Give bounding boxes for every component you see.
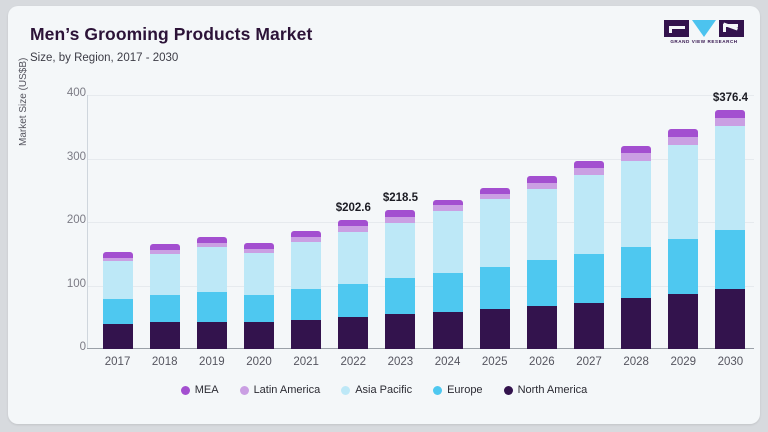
x-axis-tick-label: 2022 (329, 356, 377, 368)
bar-segment-europe[interactable] (480, 267, 510, 309)
bar-segment-north-america[interactable] (385, 314, 415, 349)
x-axis-tick-label: 2028 (612, 356, 660, 368)
y-axis-tick-label: 300 (42, 151, 86, 163)
gridline (88, 286, 754, 287)
bar-2019[interactable] (197, 95, 227, 349)
bar-segment-north-america[interactable] (433, 312, 463, 349)
legend-item-europe[interactable]: Europe (433, 384, 482, 396)
bar-2025[interactable] (480, 95, 510, 349)
bar-2020[interactable] (244, 95, 274, 349)
x-axis-tick-label: 2021 (282, 356, 330, 368)
bar-segment-asia-pacific[interactable] (244, 253, 274, 295)
bar-segment-asia-pacific[interactable] (150, 254, 180, 295)
bar-segment-asia-pacific[interactable] (197, 247, 227, 292)
legend-label: Europe (447, 384, 482, 396)
bar-segment-north-america[interactable] (480, 309, 510, 349)
bar-segment-north-america[interactable] (715, 289, 745, 349)
bar-segment-asia-pacific[interactable] (715, 126, 745, 230)
bar-segment-europe[interactable] (574, 254, 604, 302)
bar-segment-mea[interactable] (244, 243, 274, 249)
bar-segment-north-america[interactable] (574, 303, 604, 349)
gridline (88, 222, 754, 223)
legend-label: Latin America (254, 384, 321, 396)
bar-segment-mea[interactable] (103, 252, 133, 257)
bar-segment-north-america[interactable] (244, 322, 274, 349)
x-axis-tick-label: 2027 (565, 356, 613, 368)
bar-segment-asia-pacific[interactable] (527, 189, 557, 260)
bar-segment-mea[interactable] (385, 210, 415, 217)
bar-segment-latin-america[interactable] (150, 250, 180, 254)
bar-segment-asia-pacific[interactable] (433, 211, 463, 273)
bar-2022[interactable] (338, 95, 368, 349)
x-axis-line (87, 348, 754, 349)
x-axis-tick-label: 2023 (376, 356, 424, 368)
legend-label: Asia Pacific (355, 384, 412, 396)
bar-segment-europe[interactable] (197, 292, 227, 321)
bar-segment-latin-america[interactable] (197, 243, 227, 247)
bar-segment-mea[interactable] (197, 237, 227, 243)
legend-swatch-icon (504, 386, 513, 395)
x-axis-tick-label: 2029 (659, 356, 707, 368)
bar-segment-mea[interactable] (480, 188, 510, 194)
bar-segment-europe[interactable] (433, 273, 463, 312)
bar-segment-mea[interactable] (433, 200, 463, 206)
bar-segment-north-america[interactable] (338, 317, 368, 349)
legend-swatch-icon (181, 386, 190, 395)
bar-2023[interactable] (385, 95, 415, 349)
bar-2024[interactable] (433, 95, 463, 349)
y-axis-title: Market Size (US$B) (18, 58, 29, 146)
bar-segment-latin-america[interactable] (527, 183, 557, 189)
bar-segment-asia-pacific[interactable] (574, 175, 604, 254)
bar-segment-latin-america[interactable] (621, 153, 651, 161)
x-axis-tick-label: 2025 (471, 356, 519, 368)
bar-segment-europe[interactable] (103, 299, 133, 324)
bar-segment-mea[interactable] (621, 146, 651, 154)
bar-segment-europe[interactable] (621, 247, 651, 298)
bar-segment-mea[interactable] (291, 231, 321, 237)
legend-label: North America (518, 384, 588, 396)
x-axis-tick-label: 2030 (706, 356, 754, 368)
y-axis-tick-label: 100 (42, 278, 86, 290)
bar-segment-latin-america[interactable] (715, 118, 745, 126)
bar-segment-asia-pacific[interactable] (668, 145, 698, 240)
bar-segment-mea[interactable] (338, 220, 368, 226)
legend-swatch-icon (240, 386, 249, 395)
bar-2030[interactable] (715, 95, 745, 349)
stacked-bar-chart: Market Size (US$B) 010020030040020172018… (8, 6, 760, 424)
bar-2027[interactable] (574, 95, 604, 349)
bar-segment-europe[interactable] (244, 295, 274, 322)
legend-item-north-america[interactable]: North America (504, 384, 588, 396)
bar-segment-latin-america[interactable] (291, 237, 321, 242)
x-axis-tick-label: 2019 (188, 356, 236, 368)
bar-segment-asia-pacific[interactable] (480, 199, 510, 267)
bar-segment-asia-pacific[interactable] (621, 161, 651, 247)
bar-2021[interactable] (291, 95, 321, 349)
bar-segment-europe[interactable] (715, 230, 745, 290)
bar-segment-north-america[interactable] (668, 294, 698, 349)
bar-segment-north-america[interactable] (527, 306, 557, 349)
bar-segment-north-america[interactable] (621, 298, 651, 349)
bar-segment-europe[interactable] (385, 278, 415, 314)
bar-2026[interactable] (527, 95, 557, 349)
y-axis-tick-label: 400 (42, 87, 86, 99)
bar-value-label: $218.5 (364, 192, 436, 204)
bar-segment-latin-america[interactable] (338, 226, 368, 231)
bar-value-label: $376.4 (694, 92, 760, 104)
y-axis-tick-label: 200 (42, 214, 86, 226)
bar-segment-latin-america[interactable] (480, 194, 510, 199)
x-axis-tick-label: 2024 (424, 356, 472, 368)
bar-segment-mea[interactable] (668, 129, 698, 137)
bar-segment-mea[interactable] (715, 110, 745, 118)
chart-card: Men’s Grooming Products Market Size, by … (8, 6, 760, 424)
x-axis-tick-label: 2018 (141, 356, 189, 368)
bar-segment-asia-pacific[interactable] (291, 242, 321, 288)
bar-segment-mea[interactable] (150, 244, 180, 250)
bar-segment-europe[interactable] (668, 239, 698, 294)
bar-segment-europe[interactable] (291, 289, 321, 321)
bar-segment-europe[interactable] (338, 284, 368, 317)
gridline (88, 95, 754, 96)
legend-label: MEA (195, 384, 219, 396)
chart-legend: MEALatin AmericaAsia PacificEuropeNorth … (8, 384, 760, 396)
bar-2028[interactable] (621, 95, 651, 349)
bar-segment-latin-america[interactable] (433, 205, 463, 210)
bar-segment-asia-pacific[interactable] (103, 261, 133, 299)
bar-segment-latin-america[interactable] (668, 137, 698, 145)
x-axis-tick-label: 2020 (235, 356, 283, 368)
bar-segment-latin-america[interactable] (244, 249, 274, 253)
x-axis-tick-label: 2026 (518, 356, 566, 368)
bar-segment-mea[interactable] (527, 176, 557, 182)
bar-segment-north-america[interactable] (291, 320, 321, 349)
legend-item-mea[interactable]: MEA (181, 384, 219, 396)
bar-segment-north-america[interactable] (103, 324, 133, 349)
bar-segment-asia-pacific[interactable] (385, 223, 415, 278)
x-axis-tick-label: 2017 (94, 356, 142, 368)
bar-segment-north-america[interactable] (150, 322, 180, 349)
bar-segment-europe[interactable] (150, 295, 180, 322)
bar-segment-latin-america[interactable] (574, 168, 604, 175)
legend-swatch-icon (433, 386, 442, 395)
bar-segment-mea[interactable] (574, 161, 604, 168)
y-axis-tick-label: 0 (42, 341, 86, 353)
legend-item-latin-america[interactable]: Latin America (240, 384, 321, 396)
gridline (88, 159, 754, 160)
bar-segment-latin-america[interactable] (385, 217, 415, 223)
bar-segment-latin-america[interactable] (103, 258, 133, 262)
bar-segment-north-america[interactable] (197, 322, 227, 349)
legend-item-asia-pacific[interactable]: Asia Pacific (341, 384, 412, 396)
legend-swatch-icon (341, 386, 350, 395)
bar-segment-asia-pacific[interactable] (338, 232, 368, 285)
bar-2018[interactable] (150, 95, 180, 349)
bar-2029[interactable] (668, 95, 698, 349)
bar-2017[interactable] (103, 95, 133, 349)
bar-segment-europe[interactable] (527, 260, 557, 306)
